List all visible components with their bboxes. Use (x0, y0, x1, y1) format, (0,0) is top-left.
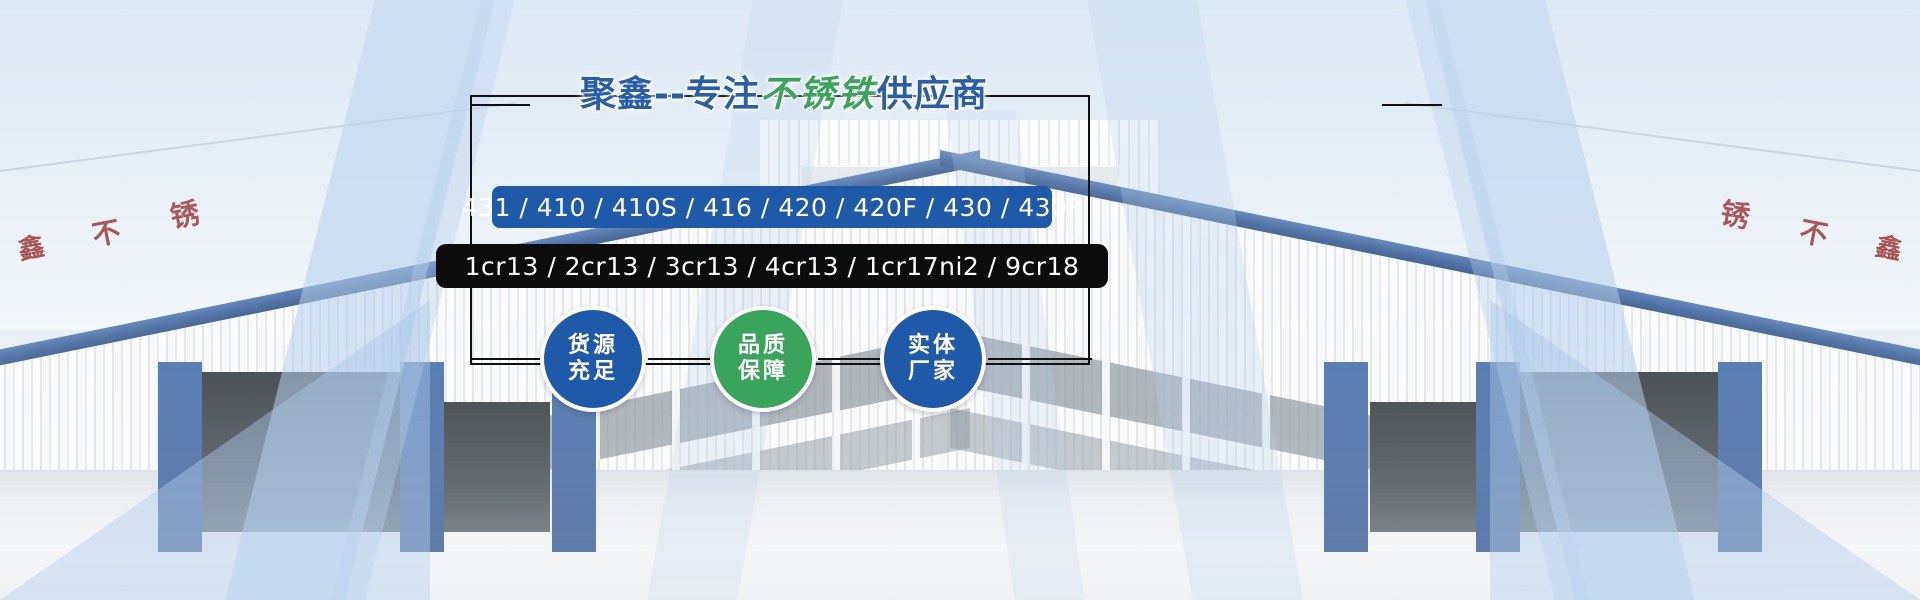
badge-supply: 货源充足 (540, 306, 646, 412)
badge-factory: 实体厂家 (880, 306, 986, 412)
grade-bar-secondary-text: 1cr13 / 2cr13 / 3cr13 / 4cr13 / 1cr17ni2… (465, 252, 1080, 281)
badge-quality-label: 品质保障 (738, 333, 788, 385)
grade-bar-primary: 431 / 410 / 410S / 416 / 420 / 420F / 43… (492, 186, 1052, 228)
grade-bar-secondary: 1cr13 / 2cr13 / 3cr13 / 4cr13 / 1cr17ni2… (436, 244, 1108, 288)
grade-bar-primary-text: 431 / 410 / 410S / 416 / 420 / 420F / 43… (462, 193, 1083, 222)
badge-supply-label: 货源充足 (568, 333, 618, 385)
badge-quality: 品质保障 (710, 306, 816, 412)
badge-factory-label: 实体厂家 (908, 333, 958, 385)
banner-content: 聚鑫--专注不锈铁供应商 431 / 410 / 410S / 416 / 42… (0, 0, 1920, 600)
headline-part-1: 聚鑫--专注 (580, 74, 760, 115)
headline: 聚鑫--专注不锈铁供应商 (0, 76, 1568, 113)
feature-badges: 货源充足 品质保障 实体厂家 (0, 306, 1568, 416)
headline-part-3: 供应商 (877, 74, 988, 115)
headline-part-2-highlight: 不锈铁 (760, 73, 877, 115)
promo-banner: 鑫 不 锈 鑫 不 锈 聚鑫--专注不锈铁供应商 (0, 0, 1920, 600)
